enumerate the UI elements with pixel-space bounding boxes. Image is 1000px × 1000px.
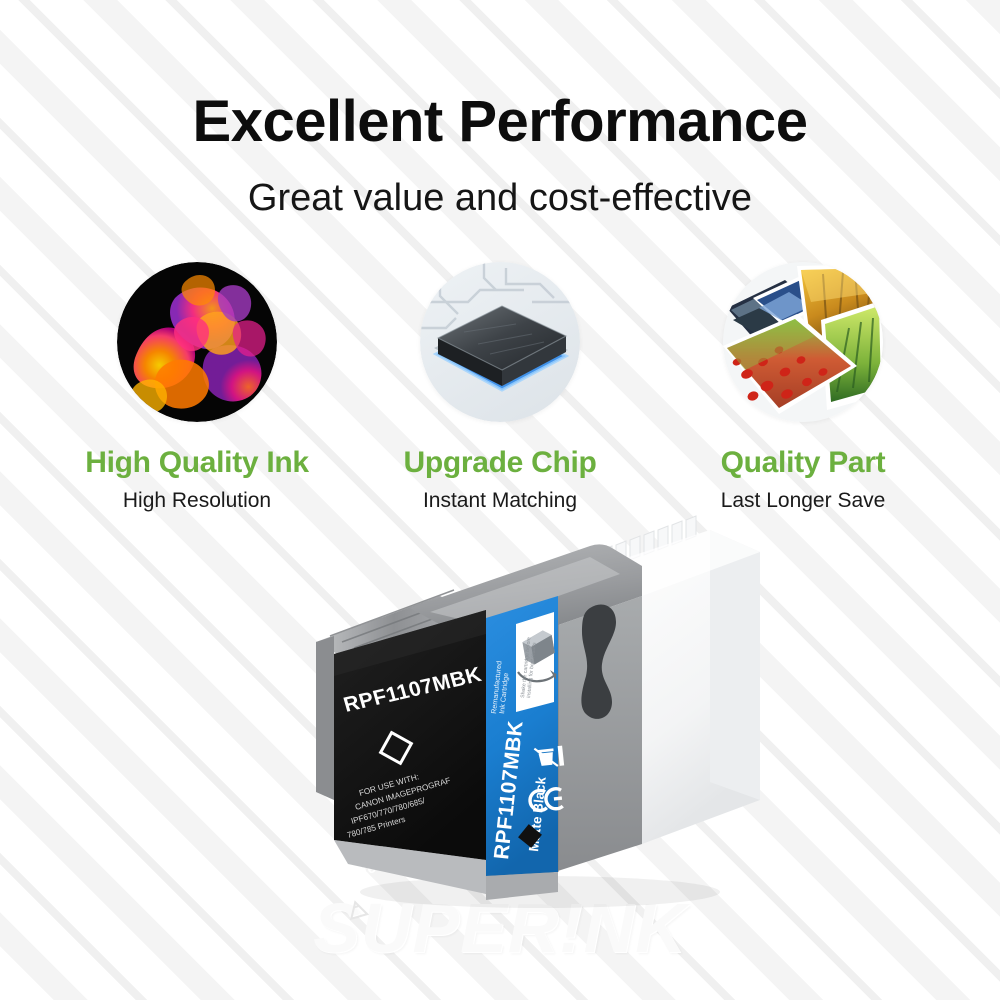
feature-subtitle: High Resolution xyxy=(123,489,271,513)
feature-title: Quality Part xyxy=(721,446,886,480)
feature-row: High Quality Ink High Resolution xyxy=(0,262,1000,513)
feature-title: Upgrade Chip xyxy=(403,446,596,480)
page-title: Excellent Performance xyxy=(0,92,1000,153)
printed-photos-icon xyxy=(723,262,883,422)
product-infographic: Excellent Performance Great value and co… xyxy=(0,0,1000,1000)
feature-item-high-quality-ink: High Quality Ink High Resolution xyxy=(62,262,332,513)
feature-item-upgrade-chip: Upgrade Chip Instant Matching xyxy=(365,262,635,513)
page-subtitle: Great value and cost-effective xyxy=(0,178,1000,220)
feature-item-quality-part: Quality Part Last Longer Save xyxy=(668,262,938,513)
chip-icon xyxy=(420,262,580,422)
feature-title: High Quality Ink xyxy=(85,446,309,480)
ink-splash-icon xyxy=(117,262,277,422)
ink-cartridge-product-image: RPF1107MBK FOR USE WITH: CANON IMAGEPROG… xyxy=(290,500,790,920)
instruction-box: Shake the cartridge before installing fo… xyxy=(516,612,556,712)
recycle-icon xyxy=(347,900,367,919)
side-label: RPF1107MBK Matte Black Remanufactured In… xyxy=(486,596,564,876)
